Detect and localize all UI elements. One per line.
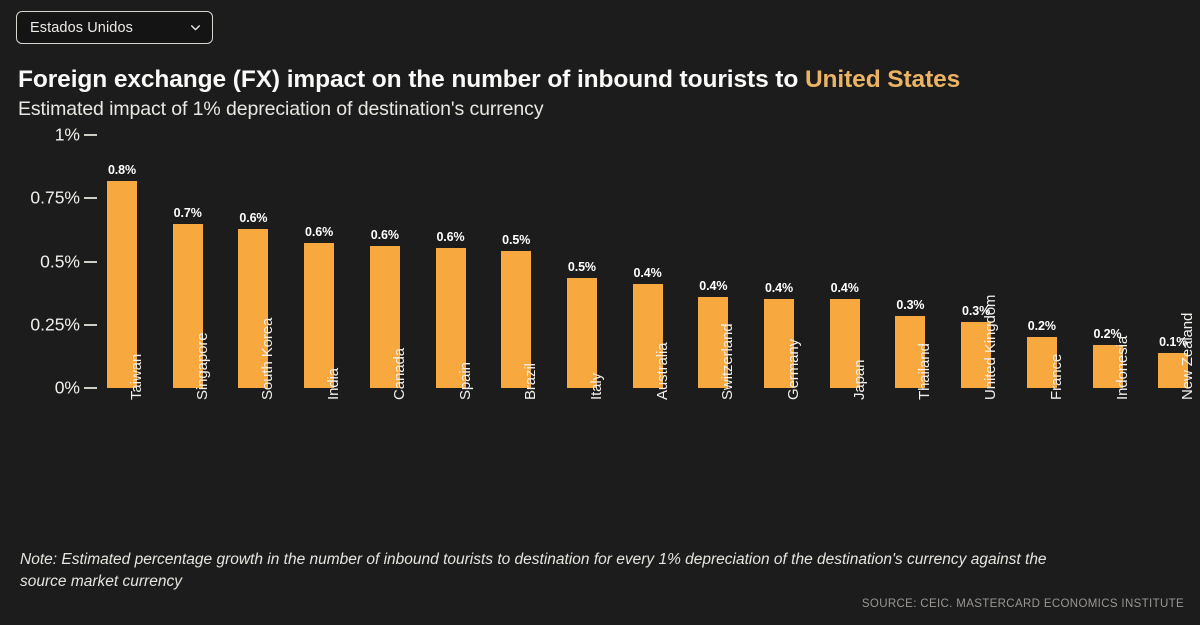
chart-note: Note: Estimated percentage growth in the… (20, 549, 1095, 593)
bar-value-label: 0.6% (239, 211, 267, 225)
bar[interactable] (961, 322, 991, 388)
bar[interactable] (633, 284, 663, 388)
page-subtitle: Estimated impact of 1% depreciation of d… (18, 98, 543, 121)
y-axis-tick-mark (84, 324, 97, 326)
bar-value-label: 0.5% (568, 260, 596, 274)
bar[interactable] (173, 224, 203, 388)
bar[interactable] (698, 297, 728, 388)
y-axis-tick-label: 0.5% (40, 251, 80, 272)
bar[interactable] (1027, 337, 1057, 388)
bar[interactable] (436, 248, 466, 388)
bar[interactable] (1158, 353, 1188, 388)
page-title: Foreign exchange (FX) impact on the numb… (18, 66, 960, 94)
y-axis-tick-label: 1% (55, 125, 80, 146)
y-axis-tick-label: 0.75% (30, 188, 80, 209)
y-axis-tick-mark (84, 197, 97, 199)
country-selector-value: Estados Unidos (30, 20, 189, 36)
y-axis-tick-label: 0% (55, 378, 80, 399)
country-selector[interactable]: Estados Unidos (16, 11, 213, 44)
y-axis-tick-mark (84, 261, 97, 263)
bar[interactable] (1093, 345, 1123, 388)
bar[interactable] (830, 299, 860, 388)
y-axis-tick-mark (84, 134, 97, 136)
bar-value-label: 0.6% (371, 228, 399, 242)
bar-value-label: 0.5% (502, 233, 530, 247)
chart-source: SOURCE: CEIC. MASTERCARD ECONOMICS INSTI… (862, 598, 1184, 610)
bar[interactable] (370, 246, 400, 388)
bar-value-label: 0.6% (305, 225, 333, 239)
bar-value-label: 0.7% (174, 206, 202, 220)
bar-value-label: 0.3% (962, 304, 990, 318)
bar[interactable] (764, 299, 794, 388)
bar[interactable] (238, 229, 268, 388)
bar[interactable] (501, 251, 531, 388)
bar-value-label: 0.4% (831, 281, 859, 295)
bar-value-label: 0.8% (108, 163, 136, 177)
bar-value-label: 0.3% (896, 298, 924, 312)
bar-value-label: 0.4% (765, 281, 793, 295)
y-axis-tick-label: 0.25% (30, 314, 80, 335)
bar-value-label: 0.4% (634, 266, 662, 280)
page-title-main: Foreign exchange (FX) impact on the numb… (18, 66, 805, 93)
chevron-down-icon (189, 21, 202, 34)
bar[interactable] (895, 316, 925, 388)
y-axis-tick-mark (84, 387, 97, 389)
bar-value-label: 0.4% (699, 279, 727, 293)
bar-value-label: 0.2% (1028, 319, 1056, 333)
bar-value-label: 0.2% (1093, 327, 1121, 341)
bar[interactable] (567, 278, 597, 388)
page-title-country: United States (805, 66, 960, 93)
bar-value-label: 0.6% (436, 230, 464, 244)
bar-value-label: 0.1% (1159, 335, 1187, 349)
bar[interactable] (304, 243, 334, 388)
bar[interactable] (107, 181, 137, 388)
